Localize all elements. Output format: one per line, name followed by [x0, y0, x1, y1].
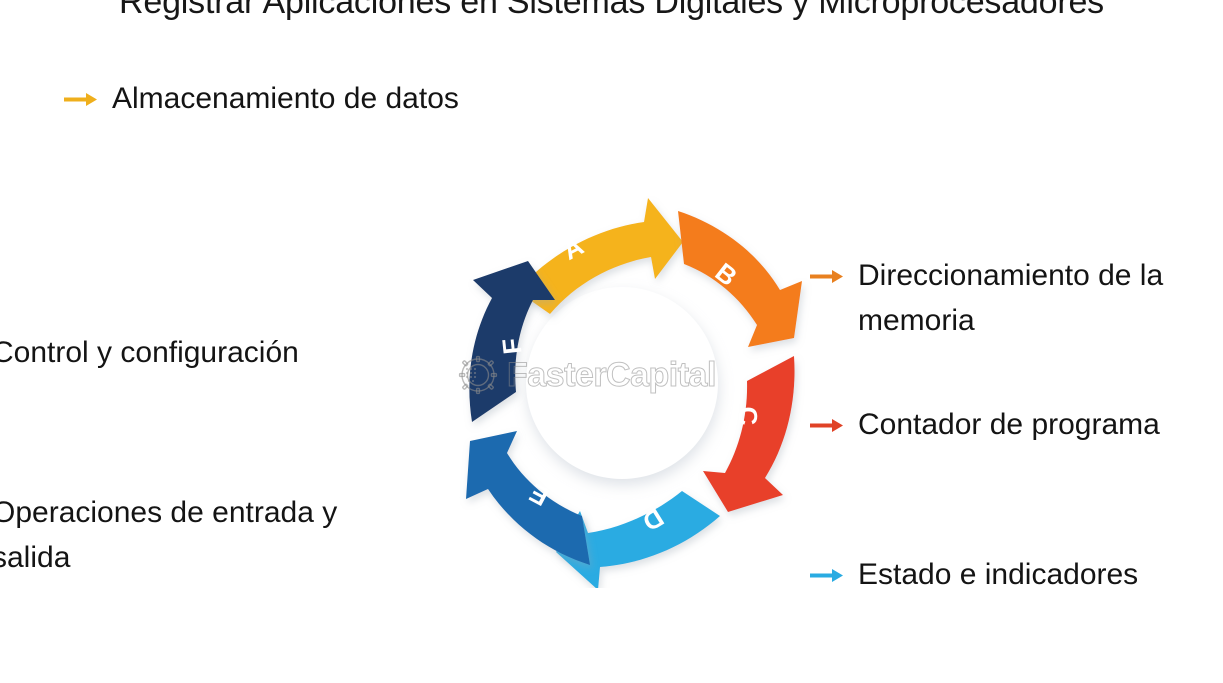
bullet-storage-label: Almacenamiento de datos: [112, 76, 459, 121]
cycle-segment-f-letter: F: [496, 337, 527, 356]
bullet-counter-label: Contador de programa: [858, 402, 1160, 447]
cycle-diagram: A B C D E F: [428, 178, 816, 588]
label-control-configuration: Control y configuración: [0, 330, 299, 375]
bullet-memory: Direccionamiento de la memoria: [808, 253, 1223, 343]
bullet-status-label: Estado e indicadores: [858, 552, 1138, 597]
arrow-right-icon: [62, 76, 100, 121]
page-title: Registrar Aplicaciones en Sistemas Digit…: [0, 0, 1223, 22]
bullet-memory-label: Direccionamiento de la memoria: [858, 253, 1163, 343]
bullet-status: Estado e indicadores: [808, 552, 1223, 597]
cycle-center-circle: [526, 287, 718, 479]
bullet-counter: Contador de programa: [808, 402, 1223, 447]
bullet-storage: Almacenamiento de datos: [62, 76, 459, 121]
label-input-output-operations: Operaciones de entrada y salida: [0, 490, 337, 580]
cycle-segment-c-letter: C: [733, 406, 764, 426]
slide-canvas: Registrar Aplicaciones en Sistemas Digit…: [0, 0, 1223, 683]
